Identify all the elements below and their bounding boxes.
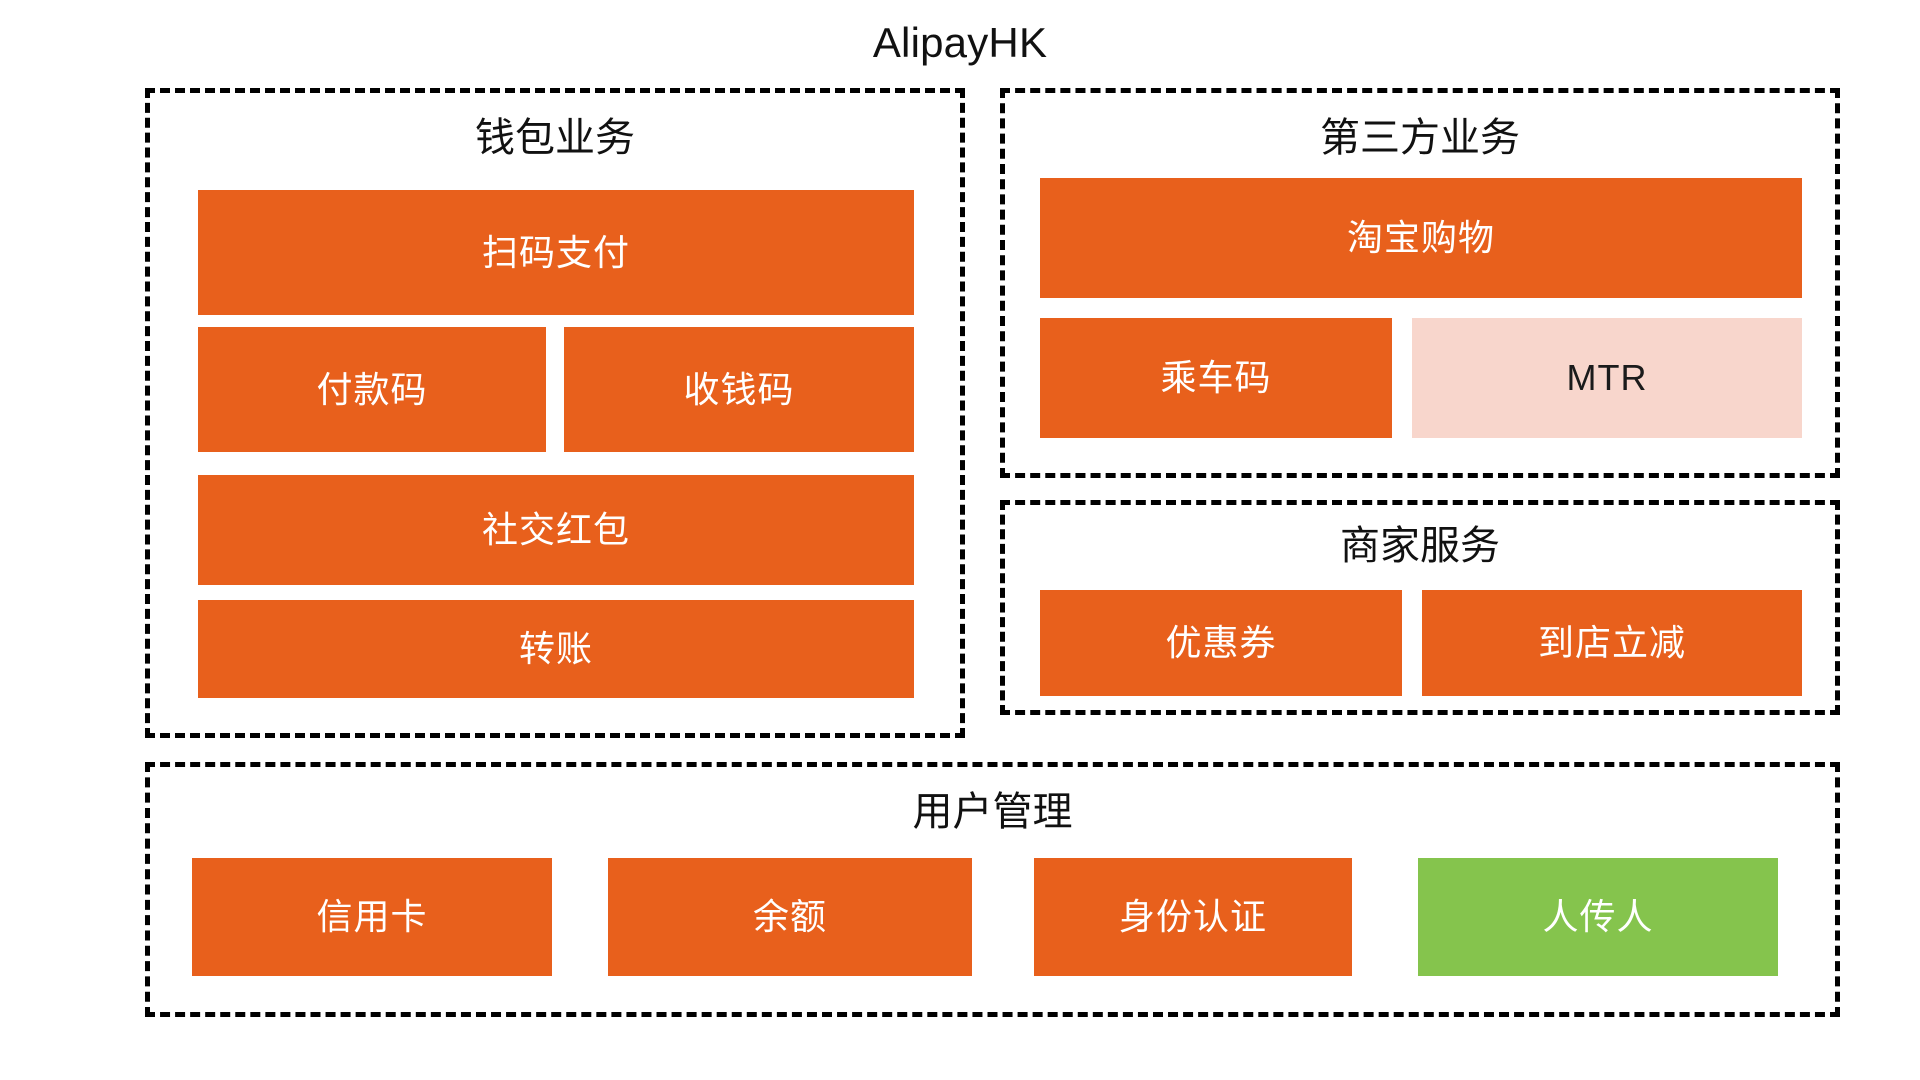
node-coupon[interactable]: 优惠券 — [1040, 590, 1402, 696]
node-in-store-discount[interactable]: 到店立减 — [1422, 590, 1802, 696]
node-person-to-person[interactable]: 人传人 — [1418, 858, 1778, 976]
node-credit-card[interactable]: 信用卡 — [192, 858, 552, 976]
group-title-merchant-services: 商家服务 — [1005, 523, 1835, 569]
node-identity-verification[interactable]: 身份认证 — [1034, 858, 1352, 976]
group-title-user-management: 用户管理 — [150, 789, 1835, 835]
node-ride-code[interactable]: 乘车码 — [1040, 318, 1392, 438]
node-collect-code[interactable]: 收钱码 — [564, 327, 914, 452]
node-social-red-packet[interactable]: 社交红包 — [198, 475, 914, 585]
node-payment-code[interactable]: 付款码 — [198, 327, 546, 452]
page-title: AlipayHK — [0, 18, 1920, 68]
node-mtr[interactable]: MTR — [1412, 318, 1802, 438]
diagram-canvas: AlipayHK 钱包业务 扫码支付 付款码 收钱码 社交红包 转账 第三方业务… — [0, 0, 1920, 1080]
node-taobao-shopping[interactable]: 淘宝购物 — [1040, 178, 1802, 298]
node-transfer[interactable]: 转账 — [198, 600, 914, 698]
group-title-wallet-business: 钱包业务 — [150, 115, 960, 161]
node-balance[interactable]: 余额 — [608, 858, 972, 976]
node-scan-payment[interactable]: 扫码支付 — [198, 190, 914, 315]
group-title-third-party-business: 第三方业务 — [1005, 115, 1835, 161]
